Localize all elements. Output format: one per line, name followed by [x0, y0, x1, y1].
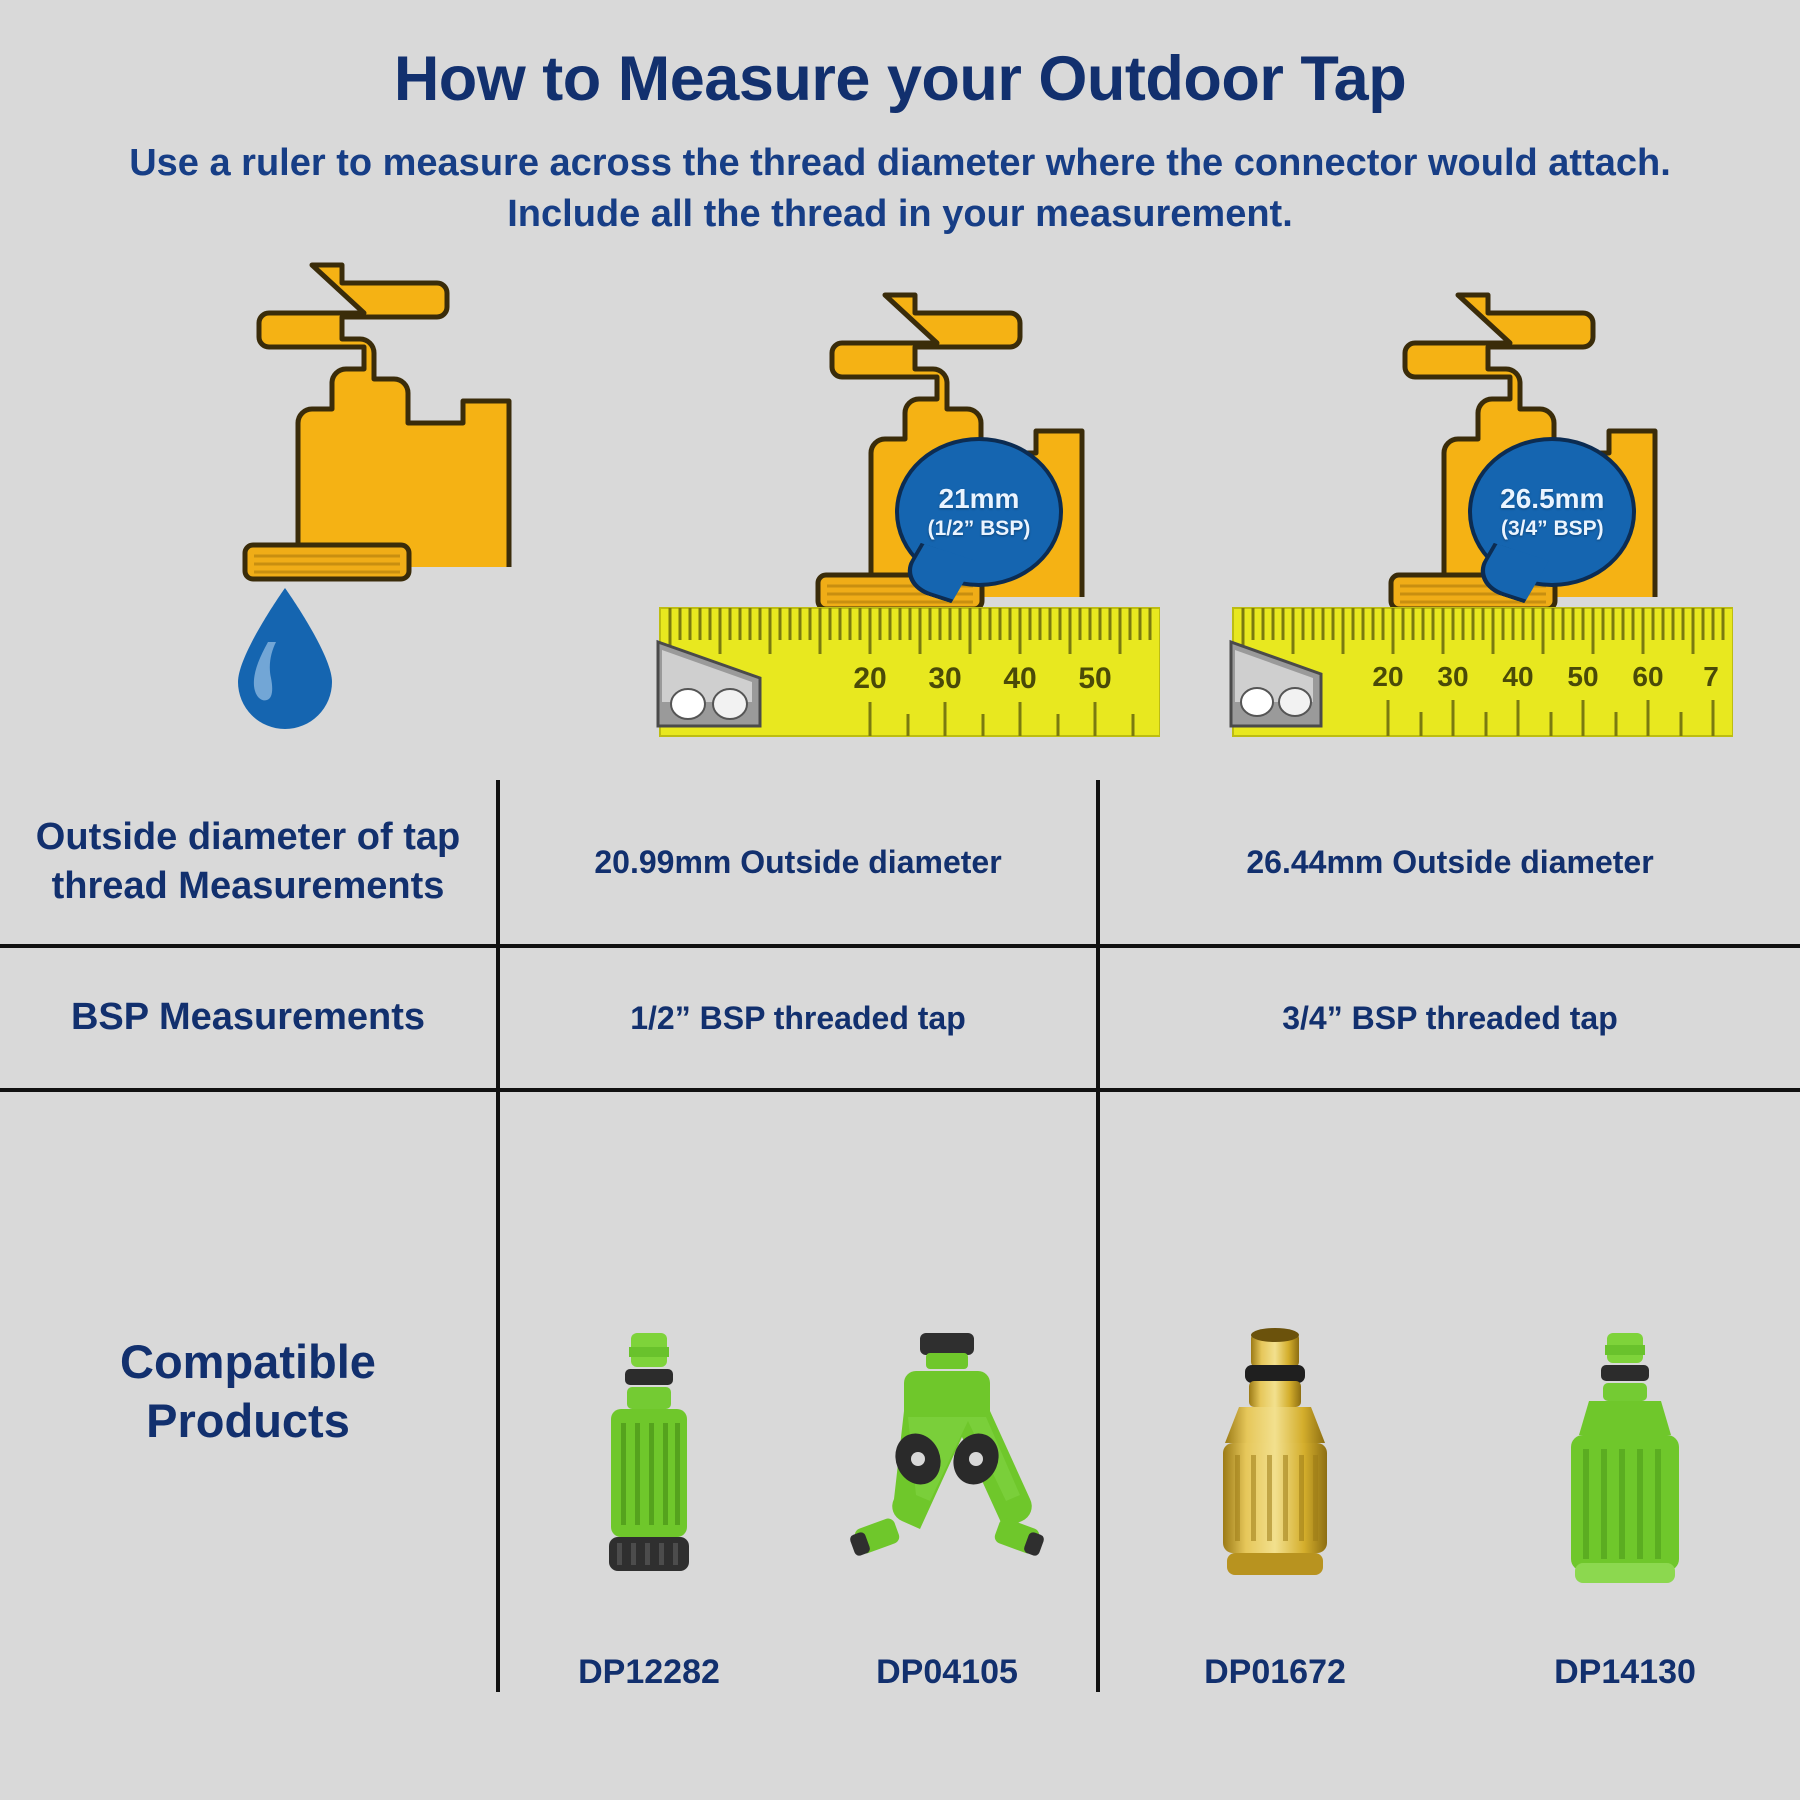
callout-bubble-half-inch: 21mm (1/2” BSP)	[895, 437, 1063, 587]
svg-text:60: 60	[1633, 661, 1664, 692]
bubble-bsp-size: (1/2” BSP)	[928, 517, 1031, 540]
svg-text:7: 7	[1704, 661, 1720, 692]
svg-text:20: 20	[853, 662, 886, 695]
tap-spout-base	[242, 542, 412, 587]
product-code: DP14130	[1554, 1653, 1696, 1692]
header: How to Measure your Outdoor Tap Use a ru…	[0, 0, 1800, 239]
svg-text:50: 50	[1568, 661, 1599, 692]
table-row-compatible-products: Compatible Products	[0, 1092, 1800, 1692]
product-image-dp12282	[589, 1317, 709, 1627]
products-three-quarter: DP01672	[1100, 1092, 1800, 1692]
product-code: DP01672	[1204, 1653, 1346, 1692]
product-image-dp04105	[842, 1317, 1052, 1627]
svg-text:50: 50	[1078, 662, 1111, 695]
table-row-bsp: BSP Measurements 1/2” BSP threaded tap 3…	[0, 948, 1800, 1088]
tape-measure: 20 30 40 50 60 7	[1213, 602, 1733, 757]
product-code: DP12282	[578, 1653, 720, 1692]
bubble-measurement: 21mm	[939, 484, 1020, 513]
comparison-table: Outside diameter of tap thread Measureme…	[0, 780, 1800, 1692]
illustration-plain-tap	[67, 257, 587, 757]
svg-text:30: 30	[928, 662, 961, 695]
product-item[interactable]: DP14130	[1500, 1317, 1750, 1692]
product-item[interactable]: DP04105	[822, 1317, 1072, 1692]
page-subtitle: Use a ruler to measure across the thread…	[80, 138, 1720, 239]
illustration-half-inch-tap: 21mm (1/2” BSP)	[640, 257, 1160, 757]
illustration-row: 21mm (1/2” BSP)	[0, 257, 1800, 757]
row-label-compatible-products: Compatible Products	[0, 1092, 496, 1692]
illustration-three-quarter-tap: 26.5mm (3/4” BSP)	[1213, 257, 1733, 757]
cell-half-inch-bsp: 1/2” BSP threaded tap	[500, 948, 1096, 1088]
svg-text:40: 40	[1003, 662, 1036, 695]
water-drop-icon	[220, 582, 350, 737]
page-title: How to Measure your Outdoor Tap	[60, 46, 1740, 112]
product-code: DP04105	[876, 1653, 1018, 1692]
bubble-bsp-size: (3/4” BSP)	[1501, 517, 1604, 540]
tap-icon	[127, 257, 527, 572]
product-image-dp14130	[1555, 1317, 1695, 1627]
svg-text:40: 40	[1503, 661, 1534, 692]
callout-bubble-three-quarter: 26.5mm (3/4” BSP)	[1468, 437, 1636, 587]
row-label-bsp: BSP Measurements	[0, 948, 496, 1088]
cell-half-inch-diameter: 20.99mm Outside diameter	[500, 780, 1096, 944]
bubble-measurement: 26.5mm	[1500, 484, 1604, 513]
table-row-outside-diameter: Outside diameter of tap thread Measureme…	[0, 780, 1800, 944]
product-image-dp01672	[1205, 1317, 1345, 1627]
tape-measure: 20 30 40 50	[640, 602, 1160, 757]
product-item[interactable]: DP12282	[524, 1317, 774, 1692]
cell-three-quarter-bsp: 3/4” BSP threaded tap	[1100, 948, 1800, 1088]
svg-text:20: 20	[1373, 661, 1404, 692]
product-item[interactable]: DP01672	[1150, 1317, 1400, 1692]
row-label-outside-diameter: Outside diameter of tap thread Measureme…	[0, 780, 496, 944]
cell-three-quarter-diameter: 26.44mm Outside diameter	[1100, 780, 1800, 944]
products-half-inch: DP12282	[500, 1092, 1096, 1692]
svg-text:30: 30	[1438, 661, 1469, 692]
infographic-page: How to Measure your Outdoor Tap Use a ru…	[0, 0, 1800, 1800]
